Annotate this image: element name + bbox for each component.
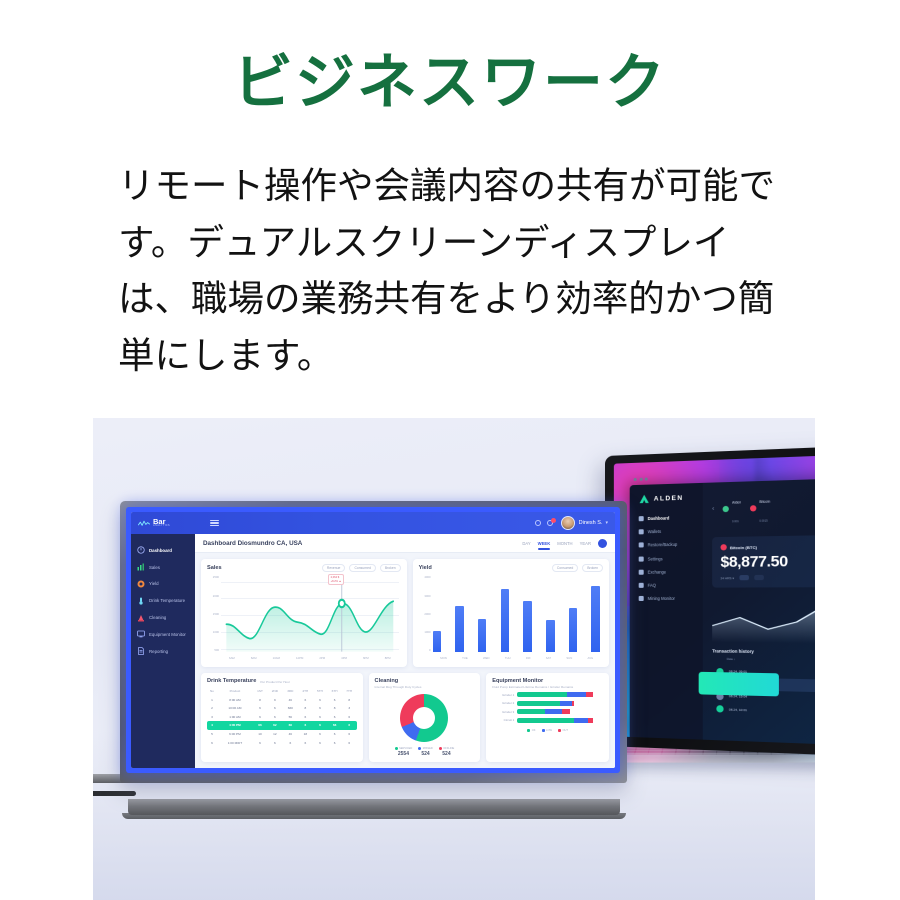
equipment-label: Circuit 1 (492, 718, 514, 722)
legend-item-missed: MISSED 524 (418, 747, 432, 757)
cell: 6 (313, 695, 328, 704)
equipment-bar-row: Circuit 1 (492, 718, 603, 723)
cell: 8 (298, 704, 313, 713)
equipment-label: Grinder 2 (492, 701, 514, 705)
sales-title: Sales (207, 565, 222, 571)
gear-icon (639, 556, 644, 561)
cell: 1 (207, 695, 217, 704)
cell: 6 (253, 713, 267, 722)
cell: 18 (298, 730, 313, 739)
cell: 6 (313, 713, 328, 722)
bar (569, 608, 578, 652)
grid-icon (639, 516, 644, 521)
y-tick: 3000 (424, 594, 430, 598)
column-header: 2ND (267, 687, 282, 695)
cell: 6 (327, 730, 342, 739)
legend-item-ok: OK (527, 729, 535, 732)
cell: 6 (298, 695, 313, 704)
cell: 8 (253, 695, 267, 704)
cell: 6 (327, 695, 342, 704)
wave-chart-logo-icon (138, 519, 150, 528)
equipment-bar-row: Grinder 2 (492, 701, 603, 706)
bar (478, 619, 487, 652)
sidebar-label: Reporting (149, 649, 168, 654)
cell: 66 (253, 721, 267, 730)
column-header: No (207, 687, 217, 695)
x-tick: AVG (588, 656, 594, 660)
dashboard-row-top: Sales Revenue Consumed Broken (201, 559, 609, 667)
bar (546, 620, 555, 652)
cell: 4:00 PM (217, 721, 253, 730)
legend-swatch-icon (527, 729, 530, 732)
legend-value: 524 (439, 751, 454, 757)
sidebar-item-reporting[interactable]: Reporting (131, 643, 195, 660)
document-icon (137, 647, 145, 655)
laptop-device: ALDEN Dashboard Wallets (605, 456, 815, 856)
chart-icon (137, 563, 145, 571)
equipment-monitor-subtitle: Fluid Pump Estimated Lifetime Remains / … (492, 685, 603, 689)
cleaning-card: Cleaning Internal Mug Through Duty Cycle… (369, 673, 481, 762)
crypto-main: ‹ Aiden 0.001 (703, 476, 815, 748)
crypto-sidebar-label: Settings (648, 556, 663, 561)
column-header: 1ST (253, 687, 267, 695)
crypto-sidebar-item-restore-backup[interactable]: Restore/Backup (639, 542, 696, 548)
sidebar-item-equipment-monitor[interactable]: Equipment Monitor (131, 626, 195, 643)
message-icon[interactable] (547, 520, 553, 526)
cell: 46 (283, 730, 298, 739)
cell: 6 (283, 738, 298, 747)
cell: 6 (207, 738, 217, 747)
cell: 6 (298, 713, 313, 722)
dashboard-sidebar: Dashboard Sales Yield (131, 534, 195, 768)
drink-temperature-card: Drink Temperature Per Product Per Hour N… (201, 673, 363, 762)
cell: 8 (327, 704, 342, 713)
range-chip[interactable] (754, 575, 764, 580)
bar (455, 606, 464, 652)
cell: 6 (327, 738, 342, 747)
sidebar-label: Dashboard (149, 548, 172, 553)
legend-label: OFFLINE (443, 747, 454, 750)
coin-sub: 0.0015 (759, 519, 767, 522)
window-maximize-dot[interactable] (645, 478, 648, 481)
x-tick: MON (440, 656, 447, 660)
sales-x-axis: 6AM 8AM 10AM 12PM 2PM 4PM 6PM 8P (221, 653, 399, 662)
cell: 46 (283, 695, 298, 704)
x-tick: 2PM (319, 656, 325, 660)
cell: 6 (313, 730, 328, 739)
crypto-sidebar-label: Restore/Backup (648, 542, 678, 548)
cell: 66 (283, 721, 298, 730)
yield-filter-pills: Consumed Broken (552, 564, 603, 572)
cell: 6 (298, 738, 313, 747)
cell: 9 (267, 695, 282, 704)
cell: 3 (207, 713, 217, 722)
price-card-meta: 24 HRS ▾ (720, 574, 815, 580)
sidebar-label: Cleaning (149, 615, 166, 620)
cell: 10 (253, 730, 267, 739)
swap-icon (639, 569, 644, 574)
y-tick: 1500 (213, 612, 219, 616)
cell: 6 (298, 721, 313, 730)
dashboard-brand[interactable]: Bar ANALYTICS (138, 518, 202, 528)
yield-title: Yield (419, 565, 432, 571)
range-tab-day[interactable]: DAY (522, 541, 530, 546)
sidebar-item-sales[interactable]: Sales (131, 559, 195, 576)
bar (433, 631, 442, 652)
bitcoin-dot-icon (720, 544, 726, 550)
table-row[interactable]: 6 1:00 MIDT 6 6 6 6 6 (207, 738, 357, 747)
user-name[interactable]: Dinesh S. (579, 520, 603, 526)
legend-label: MISSED (423, 747, 433, 750)
sales-filter-pills: Revenue Consumed Broken (322, 564, 401, 572)
dashboard-grid: Sales Revenue Consumed Broken (195, 553, 615, 768)
crypto-brand-name: ALDEN (654, 495, 684, 503)
range-chip[interactable] (739, 575, 749, 580)
crypto-sidebar-label: Dashboard (648, 515, 670, 521)
crypto-top-row: ‹ Aiden 0.001 (712, 485, 815, 528)
column-header: 6TH (327, 687, 342, 695)
equipment-monitor-title: Equipment Monitor (492, 678, 603, 684)
pill-broken[interactable]: Broken (582, 564, 603, 572)
sidebar-item-dashboard[interactable]: Dashboard (131, 542, 195, 559)
price-card-coin: Bitcoin (BTC) (730, 544, 757, 550)
cell: 62 (267, 721, 282, 730)
legend-label: SERVICED (399, 747, 412, 750)
tooltip-delta: +8.2% ▲ (331, 580, 342, 583)
y-tick: 2500 (213, 575, 219, 579)
table-row[interactable]: 5 6:00 PM 10 12 46 18 6 (207, 730, 357, 739)
crypto-brand: ALDEN (639, 492, 696, 505)
y-tick: 2000 (424, 612, 430, 616)
cleaning-donut-chart (400, 694, 448, 742)
monitor-icon (137, 630, 145, 638)
dashboard-topbar: Bar ANALYTICS Dinesh S. (131, 512, 615, 534)
crypto-dashboard-window: ALDEN Dashboard Wallets (630, 476, 815, 748)
chevron-down-icon[interactable]: ▾ (605, 520, 608, 526)
x-tick: FRI (526, 656, 531, 660)
cell: 3 (342, 704, 357, 713)
cell: 6 (267, 713, 282, 722)
table-row[interactable]: 2 10:00 AM 6 6 660 8 6 (207, 704, 357, 713)
crypto-sidebar-item-mining-monitor[interactable]: Mining Monitor (639, 596, 696, 601)
monitor-stand (128, 799, 620, 815)
pill-consumed[interactable]: Consumed (552, 564, 578, 572)
brand-subtitle: ANALYTICS (153, 525, 170, 528)
cell: 6:00 PM (217, 730, 253, 739)
table-row[interactable]: 3 1:00 AM 6 6 56 6 6 (207, 713, 357, 722)
cell: 6 (253, 738, 267, 747)
sidebar-item-cleaning[interactable]: Cleaning (131, 609, 195, 626)
avatar[interactable] (561, 516, 575, 530)
transaction-row[interactable]: 08.24, 10:01 (712, 702, 815, 721)
cell: 4 (207, 721, 217, 730)
portable-monitor-device: Bar ANALYTICS Dinesh S. (120, 501, 627, 801)
column-header: 5TH (313, 687, 328, 695)
calendar-icon-button[interactable] (598, 539, 607, 548)
hamburger-icon[interactable] (210, 520, 219, 527)
range-tab-month[interactable]: MONTH (557, 541, 572, 546)
crypto-sidebar-item-dashboard[interactable]: Dashboard (639, 515, 696, 521)
sidebar-label: Sales (149, 565, 160, 570)
yield-bars (433, 577, 600, 652)
pill-consumed[interactable]: Consumed (349, 564, 375, 572)
laptop-lid: ALDEN Dashboard Wallets (605, 443, 815, 759)
pill-revenue[interactable]: Revenue (322, 564, 346, 572)
x-tick: WED (483, 656, 490, 660)
coin-dot-icon (750, 505, 756, 511)
x-tick: THU (505, 656, 511, 660)
sales-y-axis: 2500 2000 1500 1000 500 (207, 575, 219, 652)
cell: 6 (342, 721, 357, 730)
equipment-bar-row: Grinder 1 (492, 692, 603, 697)
crypto-sidebar: ALDEN Dashboard Wallets (630, 483, 703, 742)
cell: 2 (207, 704, 217, 713)
bell-icon[interactable] (535, 520, 541, 526)
coin-name: Bitcoin (759, 500, 770, 504)
transaction-history-sort[interactable]: Date ↓ (727, 657, 815, 664)
x-tick: 6AM (229, 656, 235, 660)
crypto-sidebar-label: Wallets (648, 529, 661, 534)
cell: 660 (283, 704, 298, 713)
table-row[interactable]: 1 8:00 AM 8 9 46 6 6 (207, 695, 357, 704)
stacked-bar (517, 709, 603, 714)
cell: 6 (313, 721, 328, 730)
legend-item-low: LOW (542, 729, 552, 732)
bar (591, 586, 600, 652)
equipment-label: Grinder 3 (492, 710, 514, 714)
x-tick: 4PM (341, 656, 347, 660)
back-chevron-icon[interactable]: ‹ (712, 506, 714, 512)
sales-card-header: Sales Revenue Consumed Broken (207, 564, 401, 572)
coin-chip-aiden[interactable]: Aiden 0.001 (723, 490, 742, 528)
cell: 56 (283, 713, 298, 722)
sales-card: Sales Revenue Consumed Broken (201, 559, 407, 667)
column-header: 3RD (283, 687, 298, 695)
drink-temperature-subtitle: Per Product Per Hour (260, 680, 290, 684)
x-tick: TUE (462, 656, 468, 660)
sidebar-label: Equipment Monitor (149, 632, 186, 637)
broom-icon (137, 614, 145, 622)
cell: 6 (313, 738, 328, 747)
product-photo: ALDEN Dashboard Wallets (93, 418, 815, 900)
laptop-screen: ALDEN Dashboard Wallets (614, 452, 815, 748)
x-tick: 8AM (251, 656, 257, 660)
product-description-page: ビジネスワーク リモート操作や会議内容の共有が可能です。デュアルスクリーンディス… (0, 0, 900, 900)
table-row-highlighted[interactable]: 4 4:00 PM 66 62 66 6 6 (207, 721, 357, 730)
sidebar-item-drink-temperature[interactable]: Drink Temperature (131, 592, 195, 609)
bitcoin-price: $8,877.50 (720, 551, 815, 571)
crypto-sidebar-label: Mining Monitor (648, 596, 675, 601)
column-header: Product (217, 687, 253, 695)
y-tick: 0 (429, 648, 431, 652)
x-tick: 6PM (363, 656, 369, 660)
dashboard-title: Dashboard Diosmundro CA, USA (203, 540, 302, 547)
alden-logo-icon (639, 494, 650, 505)
notification-dot (551, 518, 556, 523)
sales-area-chart: 2500 2000 1500 1000 500 (207, 575, 401, 662)
bar (501, 589, 510, 652)
sales-tooltip: 2,064 $ +8.2% ▲ (328, 574, 345, 584)
cell: 6 (342, 738, 357, 747)
crypto-sidebar-label: FAQ (648, 583, 656, 588)
transaction-history-title: Transaction history (712, 648, 815, 656)
cell: 6 (267, 704, 282, 713)
bitcoin-price-card: Bitcoin (BTC) $8,877.50 24 HRS ▾ (712, 534, 815, 588)
transaction-status-icon (716, 705, 723, 712)
transaction-date: 08.24, 10:01 (729, 707, 747, 712)
window-close-dot[interactable] (634, 478, 637, 481)
legend-label: OUT (562, 729, 567, 732)
crypto-sidebar-item-exchange[interactable]: Exchange (639, 569, 696, 575)
legend-item-out: OUT (558, 729, 568, 732)
cell: 12 (267, 730, 282, 739)
x-tick: SAT (546, 656, 551, 660)
restore-icon (639, 543, 644, 548)
price-range-label[interactable]: 24 HRS ▾ (720, 576, 733, 580)
cell: 5 (207, 730, 217, 739)
crypto-sidebar-item-wallets[interactable]: Wallets (639, 528, 696, 534)
table-header-row: No Product 1ST 2ND 3RD 4TH 5TH 6 (207, 687, 357, 695)
legend-item-offline: OFFLINE 524 (439, 747, 454, 757)
dashboard-icon (137, 546, 145, 554)
dashboard-main: Dashboard Diosmundro CA, USA DAY WEEK MO… (195, 534, 615, 768)
cell: 10:00 AM (217, 704, 253, 713)
dashboard-body: Dashboard Sales Yield (131, 534, 615, 768)
cell: 1:00 MIDT (217, 738, 253, 747)
sidebar-item-yield[interactable]: Yield (131, 576, 195, 593)
coin-chip-bitcoin[interactable]: Bitcoin 0.0015 (750, 489, 770, 527)
cleaning-title: Cleaning (375, 678, 475, 684)
legend-value: 2554 (395, 751, 413, 757)
cell: 6 (342, 713, 357, 722)
stacked-bar (517, 692, 603, 697)
yield-card: Yield Consumed Broken (413, 559, 609, 667)
window-minimize-dot[interactable] (639, 478, 642, 481)
sales-plot-area: 2,064 $ +8.2% ▲ (221, 575, 399, 652)
stacked-bar (517, 701, 603, 706)
cleaning-header: Cleaning Internal Mug Through Duty Cycle… (375, 678, 475, 689)
x-tick: 12PM (296, 656, 303, 660)
crypto-sidebar-label: Exchange (648, 569, 666, 574)
bar (523, 601, 532, 652)
legend-swatch-icon (439, 747, 442, 750)
legend-swatch-icon (558, 729, 561, 732)
equipment-label: Grinder 1 (492, 693, 514, 697)
sidebar-label: Drink Temperature (149, 598, 185, 603)
legend-value: 524 (418, 751, 432, 757)
drink-temperature-table: No Product 1ST 2ND 3RD 4TH 5TH 6 (207, 687, 357, 747)
column-header: 7TH (342, 687, 357, 695)
dashboard-row-bottom: Drink Temperature Per Product Per Hour N… (201, 673, 609, 762)
cell: 8:00 AM (217, 695, 253, 704)
cell: 6 (342, 730, 357, 739)
equipment-bar-row: Grinder 3 (492, 709, 603, 714)
yield-bar-chart: 4000 3000 2000 1000 0 (419, 575, 603, 662)
wallet-icon (639, 529, 644, 534)
coin-sub: 0.001 (732, 520, 739, 523)
y-tick: 2000 (213, 594, 219, 598)
donut-icon (137, 580, 145, 588)
cell: 1:00 AM (217, 713, 253, 722)
crypto-primary-button[interactable] (699, 672, 779, 697)
equipment-monitor-card: Equipment Monitor Fluid Pump Estimated L… (486, 673, 609, 762)
legend-item-serviced: SERVICED 2554 (395, 747, 413, 757)
x-tick: 10AM (273, 656, 280, 660)
yield-y-axis: 4000 3000 2000 1000 0 (419, 575, 431, 652)
cell: 6 (267, 738, 282, 747)
drink-temperature-title: Drink Temperature (207, 678, 256, 684)
monitor-bezel: Bar ANALYTICS Dinesh S. (120, 501, 627, 783)
window-controls[interactable] (634, 478, 648, 481)
thermometer-icon (137, 597, 145, 605)
monitor-cable-shadow (93, 791, 136, 796)
bitcoin-sparkline-chart (712, 594, 815, 644)
y-tick: 500 (214, 648, 219, 652)
cell: 66 (327, 721, 342, 730)
legend-swatch-icon (542, 729, 545, 732)
range-tab-week[interactable]: WEEK (538, 541, 551, 546)
drink-temperature-header: Drink Temperature Per Product Per Hour (207, 678, 357, 684)
cleaning-legend: SERVICED 2554 MISSED 524 (395, 747, 455, 757)
monitor-screen: Bar ANALYTICS Dinesh S. (131, 512, 615, 768)
legend-swatch-icon (395, 747, 398, 750)
y-tick: 1000 (213, 630, 219, 634)
help-icon (639, 583, 644, 588)
page-description: リモート操作や会議内容の共有が可能です。デュアルスクリーンディスプレイは、職場の… (118, 158, 790, 384)
x-tick: 8PM (385, 656, 391, 660)
legend-label: LOW (546, 729, 552, 732)
crypto-sidebar-item-settings[interactable]: Settings (639, 555, 696, 561)
crypto-sidebar-item-faq[interactable]: FAQ (639, 582, 696, 587)
dashboard-header: Dashboard Diosmundro CA, USA DAY WEEK MO… (195, 534, 615, 553)
coin-name: Aiden (732, 500, 741, 504)
page-title: ビジネスワーク (0, 48, 900, 117)
yield-card-header: Yield Consumed Broken (419, 564, 603, 572)
cell: 6 (253, 704, 267, 713)
cell: 8 (342, 695, 357, 704)
column-header: 4TH (298, 687, 313, 695)
range-selector: DAY WEEK MONTH YEAR (522, 539, 607, 548)
range-tab-year[interactable]: YEAR (580, 541, 591, 546)
x-tick: SUN (566, 656, 572, 660)
sidebar-label: Yield (149, 581, 159, 586)
pickaxe-icon (639, 596, 644, 601)
price-card-header: Bitcoin (BTC) (720, 541, 815, 550)
legend-label: OK (532, 729, 536, 732)
yield-x-axis: MON TUE WED THU FRI SAT SUN AVG (433, 653, 601, 662)
y-tick: 4000 (424, 575, 430, 579)
coin-dot-icon (723, 506, 729, 512)
y-tick: 1000 (424, 630, 430, 634)
cell: 6 (327, 713, 342, 722)
equipment-legend: OK LOW OUT (492, 729, 603, 732)
cell: 6 (313, 704, 328, 713)
pill-broken[interactable]: Broken (380, 564, 401, 572)
stacked-bar (517, 718, 603, 723)
cleaning-subtitle: Internal Mug Through Duty Cycles (375, 685, 475, 689)
